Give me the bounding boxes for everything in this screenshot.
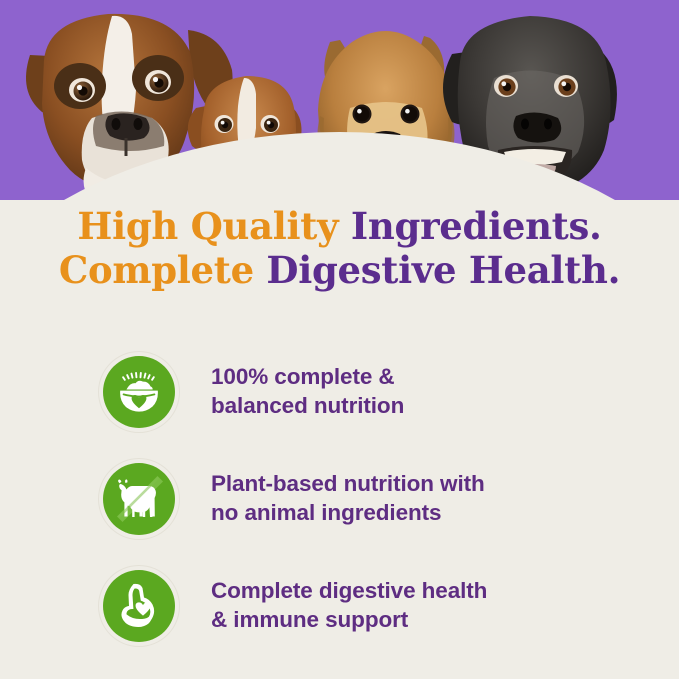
feature-text-nutrition: 100% complete & balanced nutrition	[211, 363, 404, 421]
hero-banner	[0, 0, 679, 200]
feature-text-plant-based: Plant-based nutrition with no animal ing…	[211, 470, 485, 528]
stomach-heart-icon	[103, 570, 175, 642]
headline-line-1-purple: Ingredients.	[351, 204, 602, 248]
page-title: High Quality Ingredients. Complete Diges…	[0, 205, 679, 292]
feature-3-line-1: Complete digestive health	[211, 577, 487, 606]
feature-text-digestive: Complete digestive health & immune suppo…	[211, 577, 487, 635]
feature-list: 100% complete & balanced nutrition	[0, 338, 679, 659]
food-bowl-heart-icon	[103, 356, 175, 428]
no-animal-ingredients-icon	[103, 463, 175, 535]
headline-line-2-purple: Digestive Health.	[266, 248, 620, 292]
feature-3-line-2: & immune support	[211, 606, 487, 635]
headline-line-2: Complete Digestive Health.	[0, 249, 679, 293]
feature-1-line-2: balanced nutrition	[211, 392, 404, 421]
feature-item-plant-based: Plant-based nutrition with no animal ing…	[0, 445, 679, 552]
headline-line-1: High Quality Ingredients.	[0, 205, 679, 249]
feature-1-line-1: 100% complete &	[211, 363, 404, 392]
feature-item-nutrition: 100% complete & balanced nutrition	[0, 338, 679, 445]
feature-2-line-1: Plant-based nutrition with	[211, 470, 485, 499]
feature-item-digestive: Complete digestive health & immune suppo…	[0, 552, 679, 659]
feature-2-line-2: no animal ingredients	[211, 499, 485, 528]
headline-line-2-orange: Complete	[59, 248, 254, 292]
headline-line-1-orange: High Quality	[77, 204, 338, 248]
